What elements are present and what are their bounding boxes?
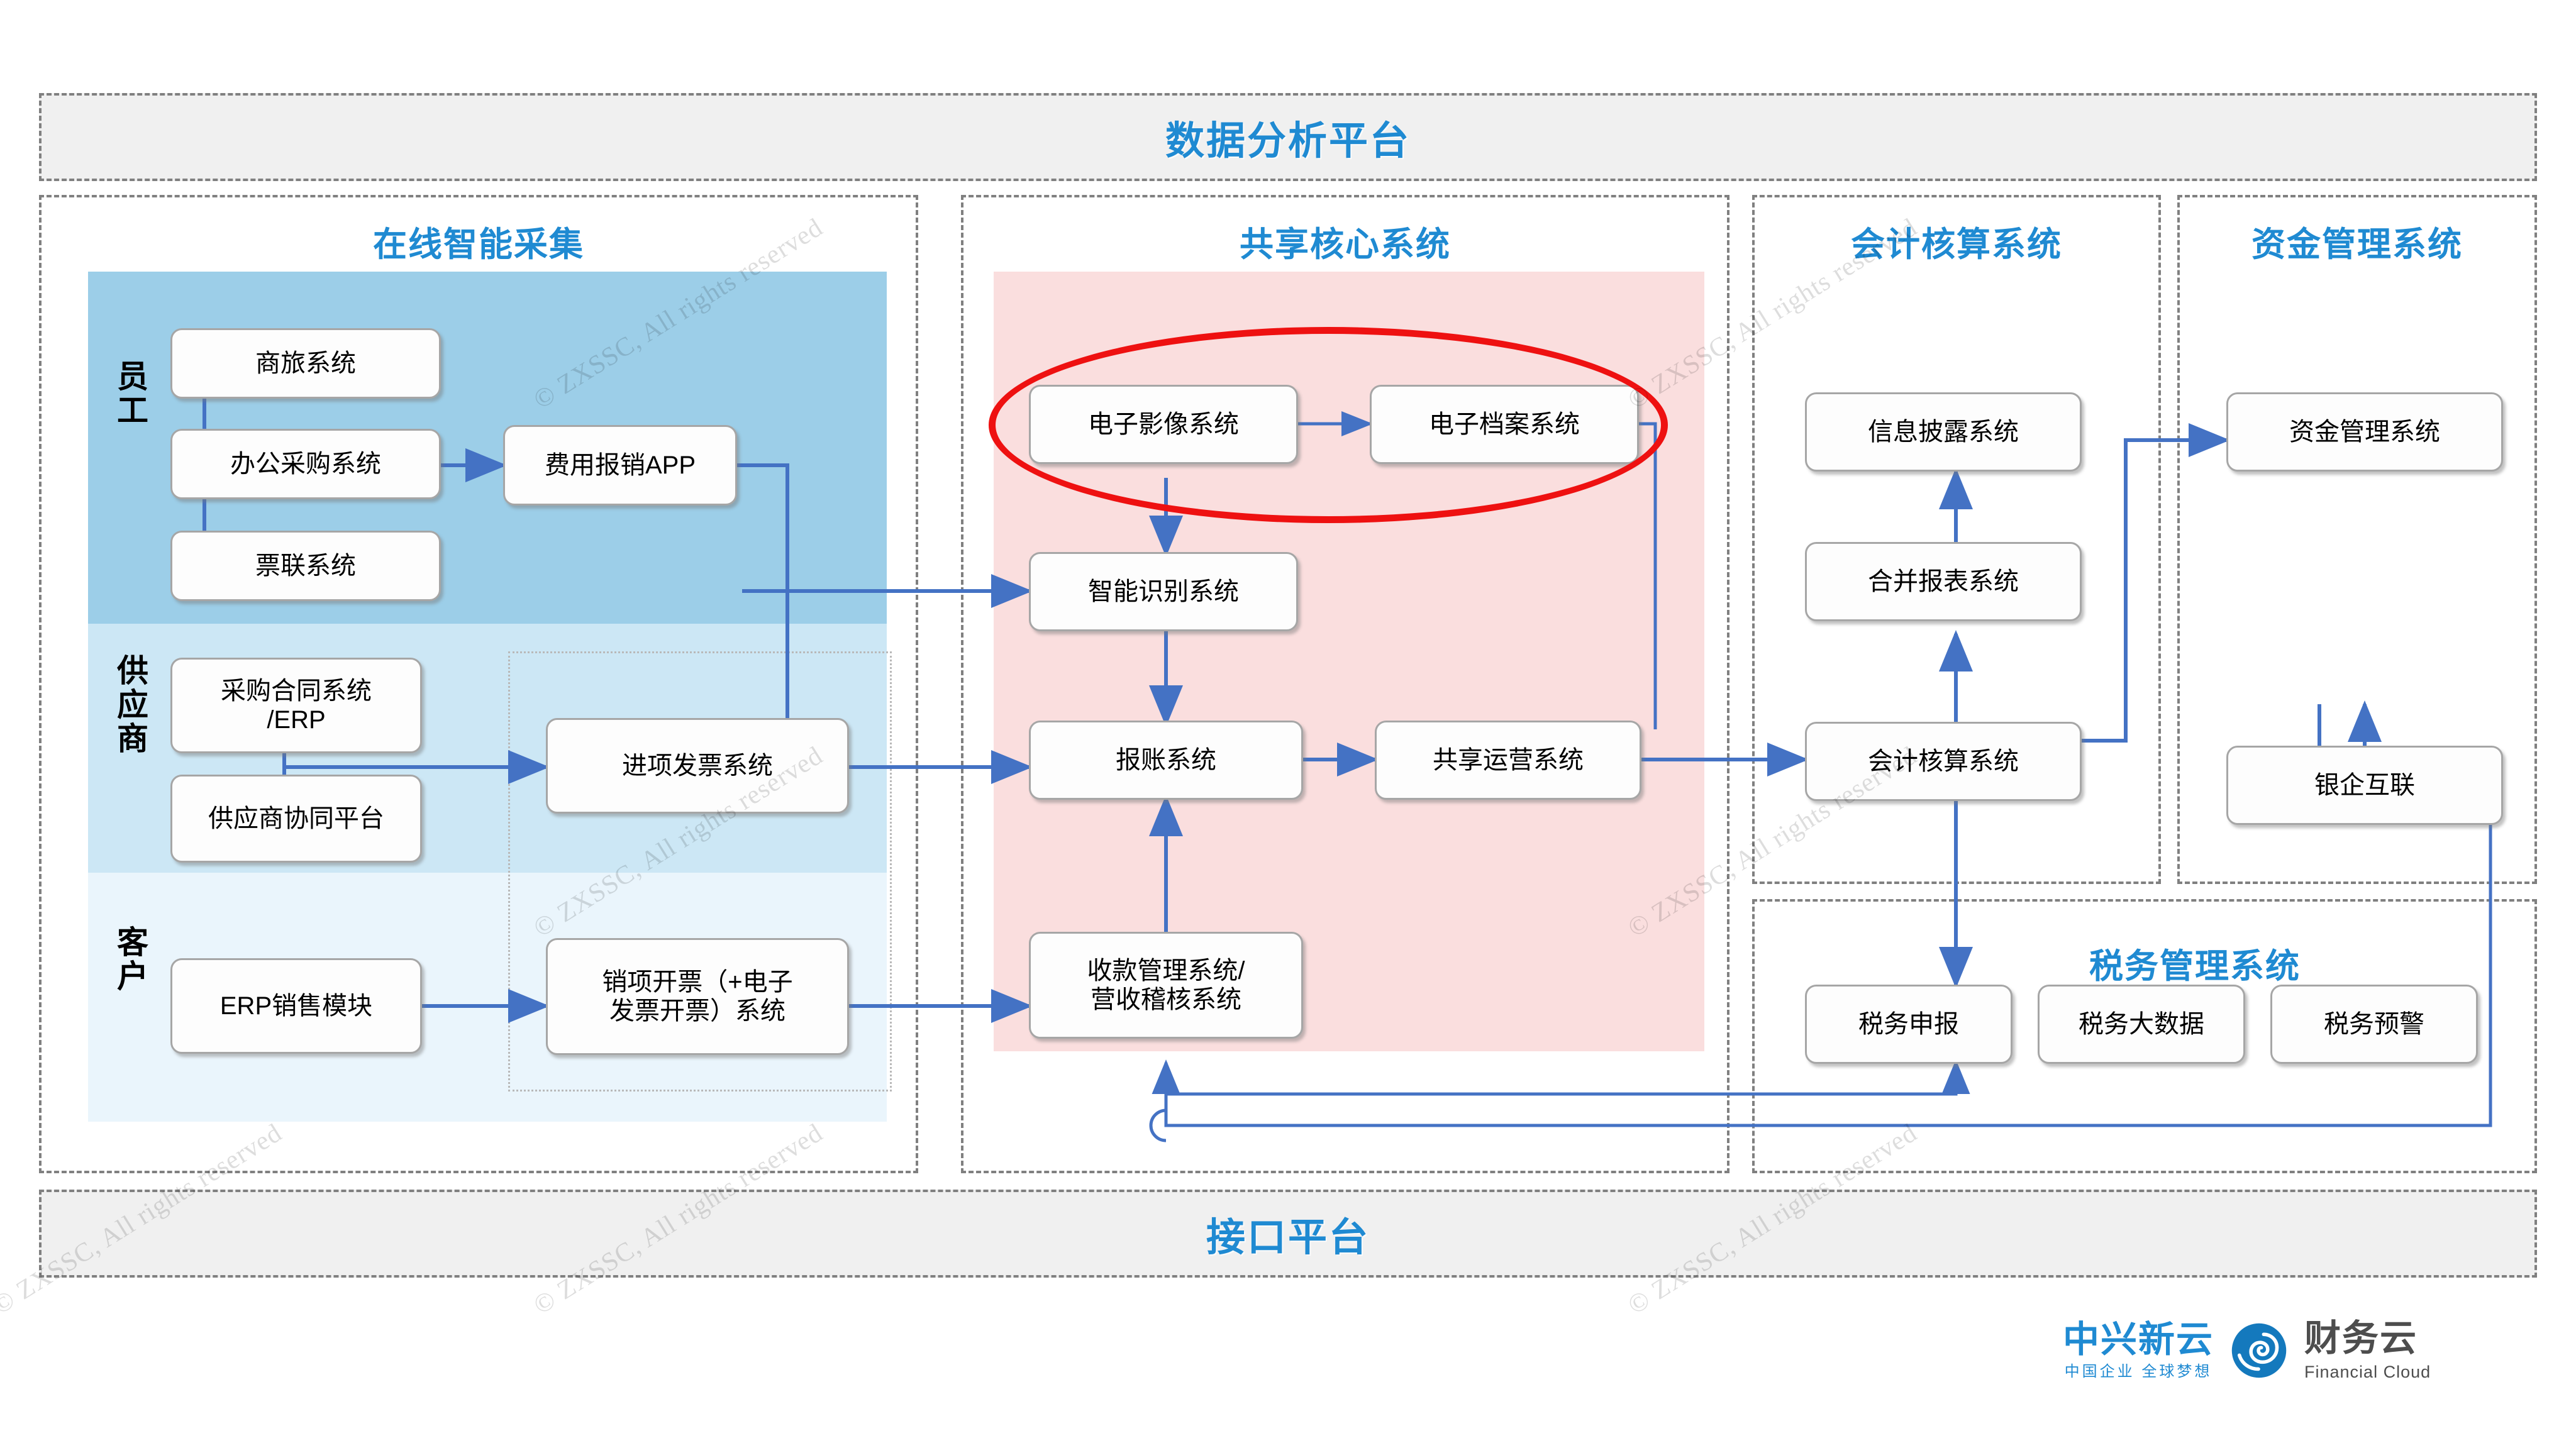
node-consolidation[interactable]: 合并报表系统 — [1805, 542, 2082, 621]
node-shared-operations[interactable]: 共享运营系统 — [1375, 721, 1641, 800]
node-input-invoice-system[interactable]: 进项发票系统 — [546, 718, 849, 814]
platform-interface: 接口平台 — [39, 1190, 2537, 1278]
node-tax-alert[interactable]: 税务预警 — [2270, 985, 2478, 1064]
node-output-invoice-system[interactable]: 销项开票（+电子 发票开票）系统 — [546, 938, 849, 1055]
logo-tagline: 中国企业 全球梦想 — [2065, 1364, 2212, 1379]
node-accounting-system[interactable]: 会计核算系统 — [1805, 722, 2082, 801]
node-info-disclosure[interactable]: 信息披露系统 — [1805, 392, 2082, 472]
node-purchase-contract-erp[interactable]: 采购合同系统 /ERP — [170, 658, 422, 753]
logo-product-name-en: Financial Cloud — [2304, 1364, 2431, 1381]
diagram-canvas: 数据分析平台 在线智能采集 共享核心系统 会计核算系统 资金管理系统 税务管理系… — [0, 0, 2576, 1448]
node-e-image-system[interactable]: 电子影像系统 — [1029, 385, 1298, 464]
node-erp-sales-module[interactable]: ERP销售模块 — [170, 958, 422, 1054]
logo-brand-block: 中兴新云 中国企业 全球梦想 — [2063, 1322, 2214, 1379]
node-receipt-audit[interactable]: 收款管理系统/ 营收稽核系统 — [1029, 932, 1303, 1039]
platform-title: 接口平台 — [1206, 1205, 1370, 1262]
logo-brand-name: 中兴新云 — [2063, 1322, 2214, 1358]
node-reimbursement[interactable]: 报账系统 — [1029, 721, 1303, 800]
node-tax-bigdata[interactable]: 税务大数据 — [2038, 985, 2245, 1064]
node-ticket-system[interactable]: 票联系统 — [170, 531, 441, 601]
node-office-purchase[interactable]: 办公采购系统 — [170, 429, 441, 499]
node-e-archive-system[interactable]: 电子档案系统 — [1370, 385, 1639, 464]
node-expense-app[interactable]: 费用报销APP — [503, 425, 737, 506]
node-supplier-platform[interactable]: 供应商协同平台 — [170, 775, 422, 863]
node-smart-recognition[interactable]: 智能识别系统 — [1029, 552, 1298, 631]
node-treasury-system[interactable]: 资金管理系统 — [2226, 392, 2503, 472]
node-travel-system[interactable]: 商旅系统 — [170, 328, 441, 399]
logo-product-block: 财务云 Financial Cloud — [2304, 1320, 2431, 1381]
node-tax-filing[interactable]: 税务申报 — [1805, 985, 2012, 1064]
cloud-swirl-icon — [2230, 1322, 2288, 1379]
brand-logo: 中兴新云 中国企业 全球梦想 财务云 Financial Cloud — [2063, 1320, 2431, 1381]
node-bank-link[interactable]: 银企互联 — [2226, 746, 2503, 825]
logo-product-name-cn: 财务云 — [2304, 1320, 2418, 1357]
